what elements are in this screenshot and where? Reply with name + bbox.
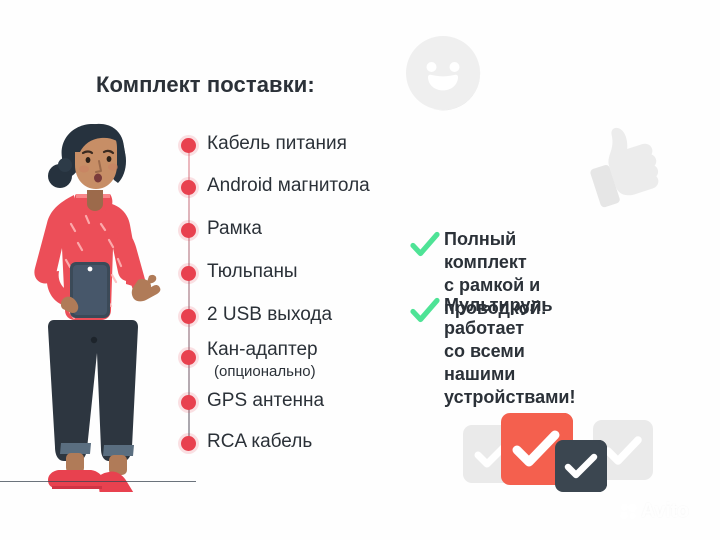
listing-image: Комплект поставки: Кабель питания Androi… (0, 0, 720, 540)
bullet-dot (181, 223, 196, 238)
checkbox-card-cluster (455, 408, 655, 498)
white-check-icon (555, 440, 607, 492)
bullet-dot (181, 436, 196, 451)
bullet-label-7: RCA кабель (207, 432, 312, 453)
green-check-icon (410, 296, 440, 326)
bullet-dot (181, 266, 196, 281)
bullet-label-1: Android магнитола (207, 176, 370, 197)
bullet-label-0: Кабель питания (207, 134, 347, 155)
avito-wordmark: Avito (641, 500, 689, 523)
bullet-label-3: Тюльпаны (207, 262, 298, 283)
callout-text-1: Мультируль работает со всеми нашими устр… (444, 294, 575, 409)
avito-logo-icon (620, 503, 637, 520)
page-title: Комплект поставки: (96, 72, 315, 98)
bullet-dot (181, 180, 196, 195)
bullet-dot (181, 350, 196, 365)
bullet-label-2: Рамка (207, 219, 262, 240)
checkbox-card-dark (555, 440, 607, 492)
bullet-dot (181, 138, 196, 153)
bullet-label-6: GPS антенна (207, 391, 324, 412)
smiley-face-icon (404, 34, 482, 112)
bullet-label-5: Кан-адаптер (207, 340, 318, 361)
thumbs-up-icon (580, 118, 676, 214)
bullet-dot (181, 395, 196, 410)
bullet-sublabel-5: (опционально) (214, 363, 316, 380)
bullet-label-4: 2 USB выхода (207, 305, 332, 326)
bullet-dot (181, 309, 196, 324)
green-check-icon (410, 230, 440, 260)
ground-line (0, 481, 196, 482)
woman-pointing-illustration (8, 112, 178, 492)
avito-watermark: Avito (620, 500, 689, 523)
